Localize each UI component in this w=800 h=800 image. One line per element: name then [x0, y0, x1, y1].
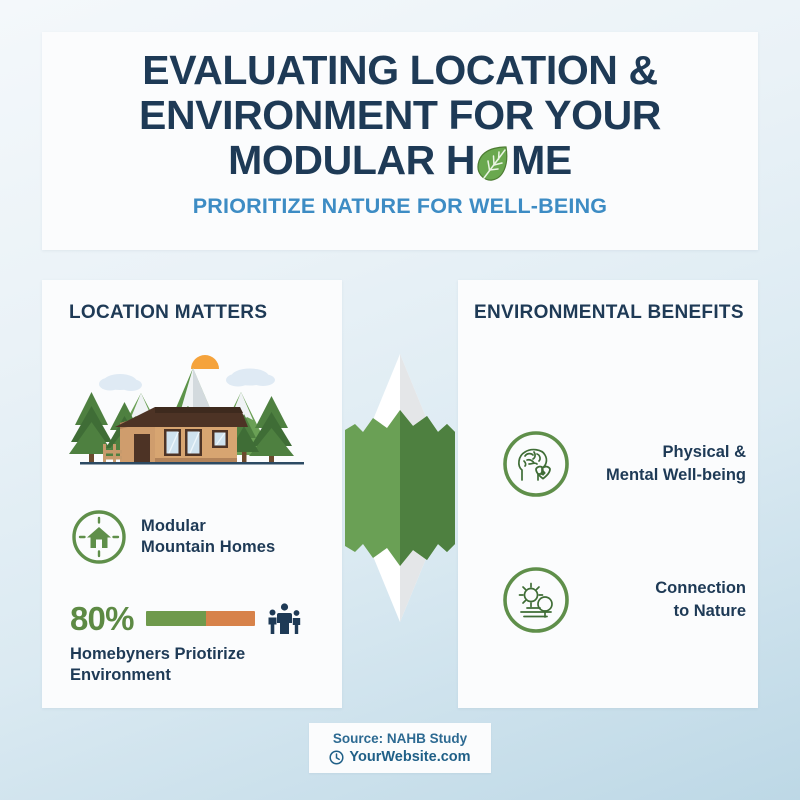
progress-bar-fill: [146, 611, 206, 626]
brain-heart-icon: [500, 428, 572, 500]
feature-label: Modular Mountain Homes: [141, 516, 275, 558]
stat-caption-line-1: Homebyners Priotirize: [70, 645, 245, 663]
benefit-label: Physical & Mental Well-being: [590, 441, 746, 487]
left-panel-heading: LOCATION MATTERS: [69, 302, 267, 324]
right-panel: ENVIRONMENTAL BENEFITS: [458, 280, 758, 708]
header-card: EVALUATING LOCATION & ENVIRONMENT FOR YO…: [42, 32, 758, 250]
right-panel-heading: ENVIRONMENTAL BENEFITS: [474, 302, 744, 324]
stat-top-row: 80%: [70, 602, 322, 635]
stat-value: 80%: [70, 602, 134, 635]
page-title-line-3-before: MODULAR H: [228, 138, 475, 183]
benefit-row-wellbeing: Physical & Mental Well-being: [500, 428, 746, 500]
page-title-line-1: EVALUATING LOCATION &: [42, 48, 758, 93]
leaf-icon: [476, 143, 510, 183]
stat-caption-line-2: Environment: [70, 666, 171, 684]
globe-clock-icon: [329, 750, 344, 765]
page-title-line-3: MODULAR H: [42, 138, 758, 183]
compass-home-icon: [70, 508, 128, 566]
sun-tree-icon: [500, 564, 572, 636]
feature-label-line-1: Modular: [141, 517, 206, 535]
page-title-line-2: ENVIRONMENT FOR YOUR: [42, 93, 758, 138]
stat-caption: Homebyners Priotirize Environment: [70, 644, 322, 686]
footer-source-text: Source: NAHB Study: [333, 730, 467, 747]
page-subtitle: PRIORITIZE NATURE FOR WELL-BEING: [42, 194, 758, 219]
feature-row-modular-mountain-homes: Modular Mountain Homes: [70, 508, 275, 566]
infographic-poster: EVALUATING LOCATION & ENVIRONMENT FOR YO…: [0, 0, 800, 800]
title-block: EVALUATING LOCATION & ENVIRONMENT FOR YO…: [42, 48, 758, 219]
feature-label-line-2: Mountain Homes: [141, 538, 275, 556]
benefit-label-line-1: Connection: [655, 579, 746, 597]
footer-card: Source: NAHB Study YourWebsite.com: [309, 723, 491, 773]
family-icon: [267, 603, 303, 634]
mountain-diamond-graphic: [343, 352, 457, 624]
stat-block-homebuyers: 80%: [70, 602, 322, 686]
footer-website-row[interactable]: YourWebsite.com: [329, 748, 470, 766]
mountain-cabin-illustration: [60, 330, 324, 495]
progress-bar: [146, 611, 255, 626]
footer-website-text: YourWebsite.com: [349, 748, 470, 766]
benefit-label: Connection to Nature: [590, 577, 746, 623]
page-title-line-3-after: ME: [511, 138, 572, 183]
left-panel: LOCATION MATTERS: [42, 280, 342, 708]
benefit-label-line-2: to Nature: [674, 602, 746, 620]
benefit-label-line-1: Physical &: [663, 443, 746, 461]
benefit-label-line-2: Mental Well-being: [606, 466, 746, 484]
benefit-row-nature: Connection to Nature: [500, 564, 746, 636]
progress-bar-remainder: [206, 611, 255, 626]
